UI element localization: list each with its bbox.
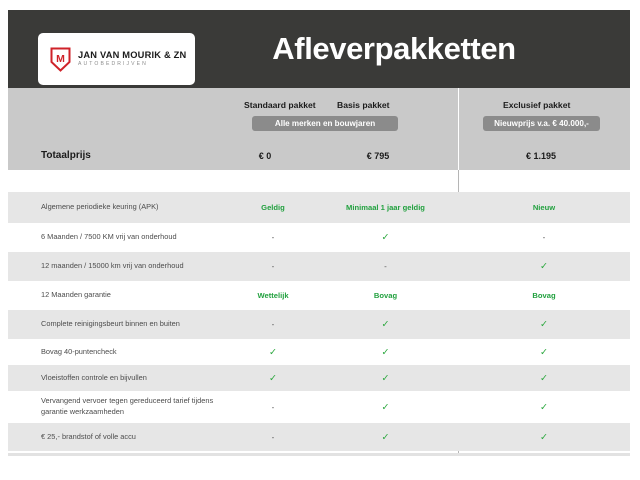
feature-value-col1: - bbox=[233, 233, 313, 242]
table-row: Vervangend vervoer tegen gereduceerd tar… bbox=[8, 391, 630, 423]
dash-icon: - bbox=[543, 233, 546, 242]
shield-m-icon: M bbox=[50, 47, 71, 72]
check-icon: ✓ bbox=[382, 347, 390, 358]
feature-value-col1: Geldig bbox=[233, 203, 313, 212]
feature-value-col1: - bbox=[233, 320, 313, 329]
dash-icon: - bbox=[272, 433, 275, 442]
check-icon: ✓ bbox=[540, 347, 548, 358]
dash-icon: - bbox=[272, 262, 275, 271]
feature-value-col2: Minimaal 1 jaar geldig bbox=[313, 203, 458, 212]
table-row: Complete reinigingsbeurt binnen en buite… bbox=[8, 310, 630, 339]
feature-label: € 25,- brandstof of volle accu bbox=[8, 432, 233, 443]
feature-value-col3: Nieuw bbox=[458, 203, 630, 212]
feature-label: 12 Maanden garantie bbox=[8, 290, 233, 301]
feature-label: Vervangend vervoer tegen gereduceerd tar… bbox=[8, 396, 233, 417]
feature-label: Bovag 40-puntencheck bbox=[8, 347, 233, 358]
feature-value-col1: ✓ bbox=[233, 373, 313, 384]
badge-nieuwprijs: Nieuwprijs v.a. € 40.000,- bbox=[483, 116, 600, 131]
check-icon: ✓ bbox=[382, 373, 390, 384]
afleverpakketten-page: Afleverpakketten M JAN VAN MOURIK & ZN A… bbox=[0, 0, 640, 480]
logo-company-subtitle: AUTOBEDRIJVEN bbox=[78, 62, 186, 67]
check-icon: ✓ bbox=[540, 319, 548, 330]
feature-value-col3: ✓ bbox=[458, 373, 630, 384]
dash-icon: - bbox=[272, 320, 275, 329]
totaalprijs-exclusief: € 1.195 bbox=[501, 151, 581, 161]
check-icon: ✓ bbox=[540, 373, 548, 384]
features-table: Algemene periodieke keuring (APK)GeldigM… bbox=[8, 170, 630, 455]
feature-value-col2: ✓ bbox=[313, 373, 458, 384]
feature-value-col3: ✓ bbox=[458, 261, 630, 272]
table-row: Algemene periodieke keuring (APK)GeldigM… bbox=[8, 192, 630, 223]
feature-value-col2: ✓ bbox=[313, 319, 458, 330]
feature-label: 12 maanden / 15000 km vrij van onderhoud bbox=[8, 261, 233, 272]
header-column-divider bbox=[458, 88, 459, 170]
feature-value-col3: ✓ bbox=[458, 402, 630, 413]
feature-label: Vloeistoffen controle en bijvullen bbox=[8, 373, 233, 384]
badge-alle-merken: Alle merken en bouwjaren bbox=[252, 116, 398, 131]
feature-value-col3: Bovag bbox=[458, 291, 630, 300]
feature-value-col2: ✓ bbox=[313, 402, 458, 413]
feature-value-col1: Wettelijk bbox=[233, 291, 313, 300]
table-row: 12 Maanden garantieWettelijkBovagBovag bbox=[8, 281, 630, 310]
table-row: 12 maanden / 15000 km vrij van onderhoud… bbox=[8, 252, 630, 281]
check-icon: ✓ bbox=[540, 261, 548, 272]
feature-value-col3: ✓ bbox=[458, 319, 630, 330]
feature-value-col1: - bbox=[233, 262, 313, 271]
page-bottom-edge bbox=[8, 453, 630, 456]
column-header-standaard: Standaard pakket bbox=[244, 100, 316, 110]
feature-label: Complete reinigingsbeurt binnen en buite… bbox=[8, 319, 233, 330]
feature-value-col2: Bovag bbox=[313, 291, 458, 300]
table-row: 6 Maanden / 7500 KM vrij van onderhoud-✓… bbox=[8, 223, 630, 252]
feature-value-col1: - bbox=[233, 433, 313, 442]
totaalprijs-label: Totaalprijs bbox=[41, 150, 91, 161]
check-icon: ✓ bbox=[269, 347, 277, 358]
totaalprijs-standaard: € 0 bbox=[225, 151, 305, 161]
check-icon: ✓ bbox=[540, 432, 548, 443]
check-icon: ✓ bbox=[382, 319, 390, 330]
table-body: Algemene periodieke keuring (APK)GeldigM… bbox=[8, 192, 630, 451]
feature-label: 6 Maanden / 7500 KM vrij van onderhoud bbox=[8, 232, 233, 243]
totaalprijs-basis: € 795 bbox=[338, 151, 418, 161]
check-icon: ✓ bbox=[269, 373, 277, 384]
dash-icon: - bbox=[272, 403, 275, 412]
feature-value-col2: ✓ bbox=[313, 432, 458, 443]
feature-value-col2: ✓ bbox=[313, 347, 458, 358]
company-logo: M JAN VAN MOURIK & ZN AUTOBEDRIJVEN bbox=[38, 33, 195, 85]
feature-value-col3: - bbox=[458, 233, 630, 242]
column-header-exclusief: Exclusief pakket bbox=[503, 100, 570, 110]
table-row: € 25,- brandstof of volle accu-✓✓ bbox=[8, 423, 630, 451]
logo-company-name: JAN VAN MOURIK & ZN bbox=[78, 51, 186, 60]
check-icon: ✓ bbox=[382, 232, 390, 243]
check-icon: ✓ bbox=[540, 402, 548, 413]
feature-value-col1: - bbox=[233, 403, 313, 412]
feature-value-col1: ✓ bbox=[233, 347, 313, 358]
column-header-basis: Basis pakket bbox=[337, 100, 390, 110]
feature-value-col2: ✓ bbox=[313, 232, 458, 243]
feature-value-col3: ✓ bbox=[458, 432, 630, 443]
feature-value-col3: ✓ bbox=[458, 347, 630, 358]
table-row: Bovag 40-puntencheck✓✓✓ bbox=[8, 339, 630, 365]
feature-label: Algemene periodieke keuring (APK) bbox=[8, 202, 233, 213]
check-icon: ✓ bbox=[382, 402, 390, 413]
table-top-spacer bbox=[8, 170, 630, 192]
page-banner: Afleverpakketten M JAN VAN MOURIK & ZN A… bbox=[8, 10, 630, 88]
table-row: Vloeistoffen controle en bijvullen✓✓✓ bbox=[8, 365, 630, 391]
feature-value-col2: - bbox=[313, 262, 458, 271]
dash-icon: - bbox=[272, 233, 275, 242]
check-icon: ✓ bbox=[382, 432, 390, 443]
dash-icon: - bbox=[384, 262, 387, 271]
svg-text:M: M bbox=[56, 53, 65, 65]
